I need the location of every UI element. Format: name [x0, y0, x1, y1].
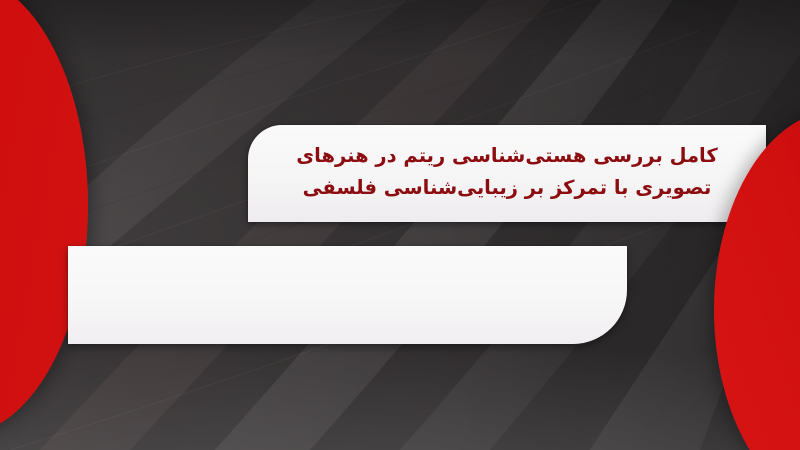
content-plate: [68, 246, 627, 344]
title-plate: کامل بررسی هستی‌شناسی ریتم در هنرهای تصو…: [248, 125, 766, 222]
presentation-slide: کامل بررسی هستی‌شناسی ریتم در هنرهای تصو…: [0, 0, 800, 450]
background-band-pattern: [0, 0, 800, 450]
page-title: کامل بررسی هستی‌شناسی ریتم در هنرهای تصو…: [264, 140, 750, 203]
